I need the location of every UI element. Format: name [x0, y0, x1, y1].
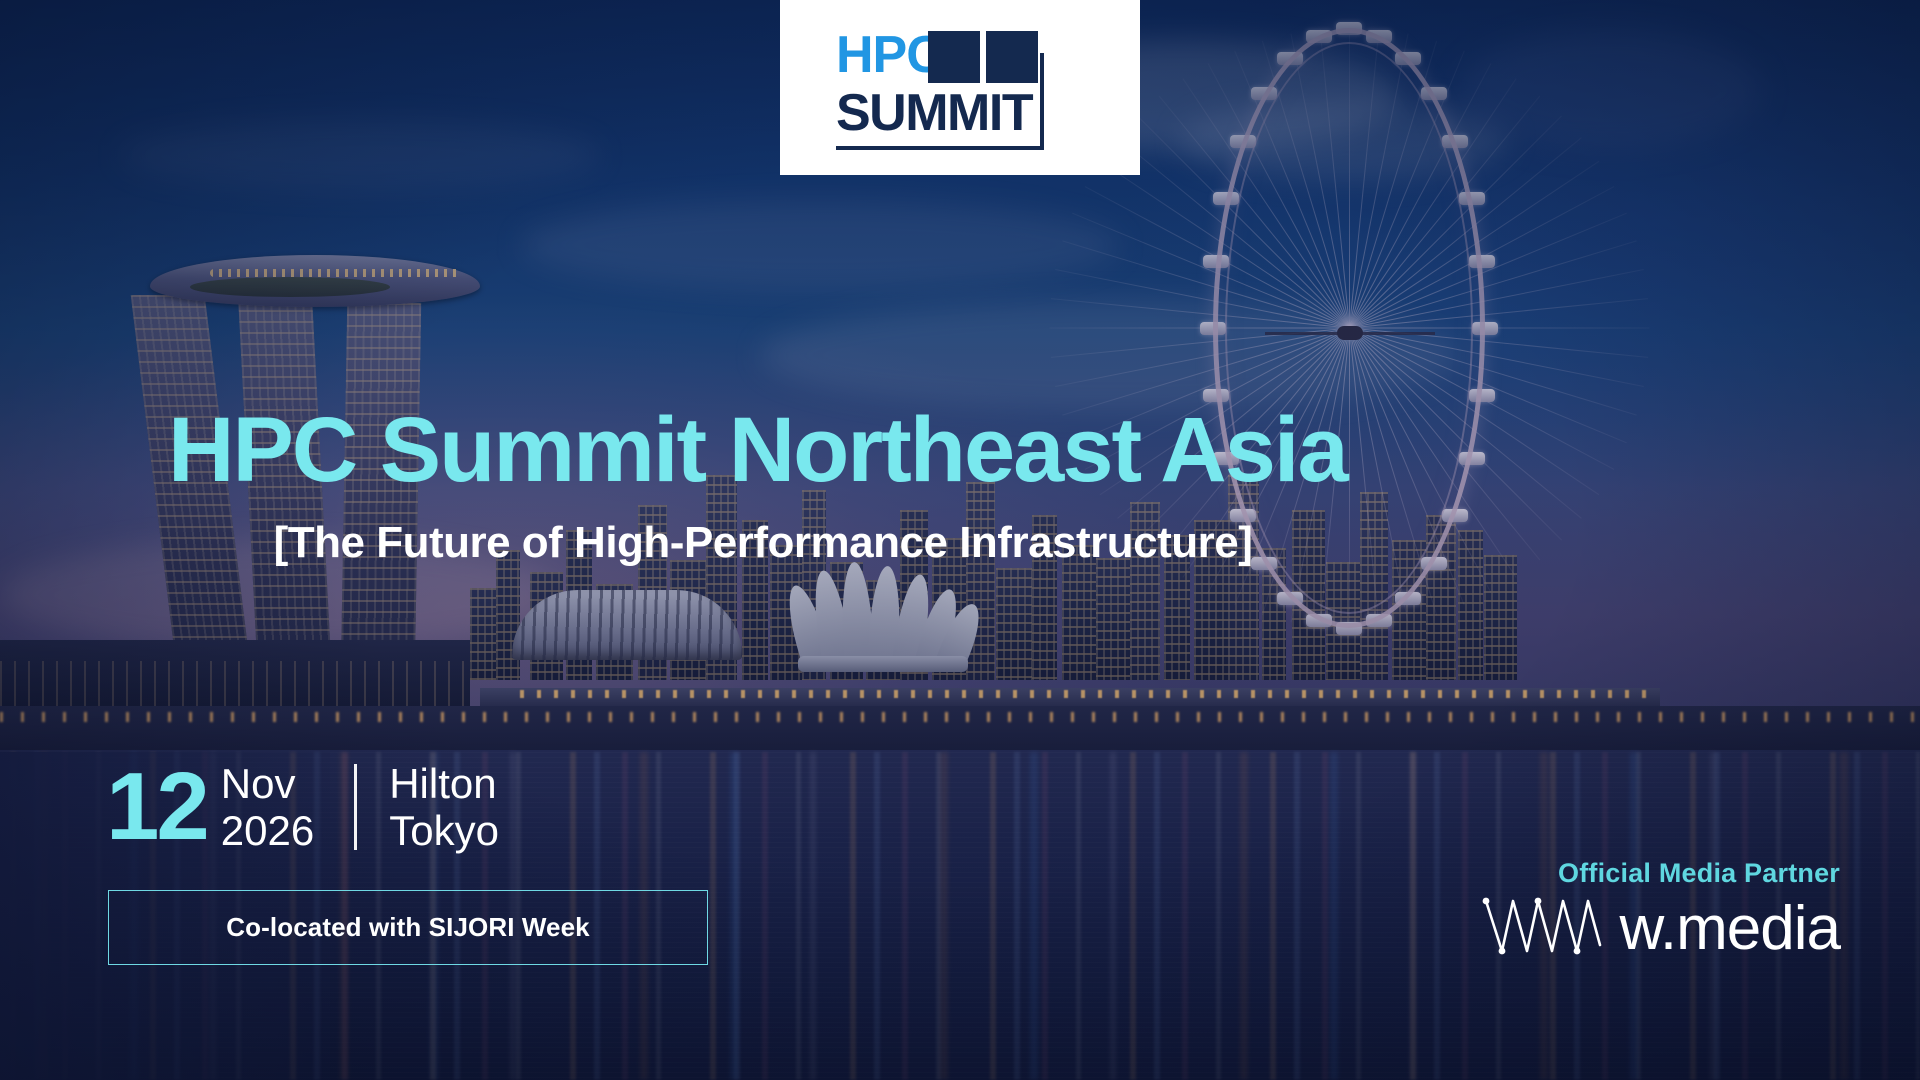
colocated-badge: Co-located with SIJORI Week [108, 890, 708, 965]
media-partner-brand: w.media [1620, 898, 1840, 960]
media-partner-label: Official Media Partner [1480, 858, 1840, 889]
wave-zigzag-icon [1480, 893, 1606, 964]
banner-content: HPC SUMMIT HPC Summit Northeast Asia [Th… [0, 0, 1920, 1080]
event-month: Nov [221, 760, 314, 807]
event-month-year: Nov 2026 [221, 760, 314, 855]
date-venue-block: 12 Nov 2026 Hilton Tokyo [106, 760, 499, 855]
headline-block: HPC Summit Northeast Asia [The Future of… [168, 404, 1768, 568]
venue-line-2: Tokyo [389, 807, 499, 854]
media-partner-logo: w.media [1480, 893, 1840, 964]
logo-mark: HPC SUMMIT [836, 25, 1084, 150]
page-subtitle: [The Future of High-Performance Infrastr… [168, 518, 1358, 568]
event-year: 2026 [221, 807, 314, 854]
hpc-summit-logo: HPC SUMMIT [780, 0, 1140, 175]
event-day: 12 [106, 764, 207, 850]
divider [354, 764, 357, 850]
media-partner-block: Official Media Partner w.media [1480, 858, 1840, 964]
logo-bracket-icon [836, 53, 1044, 150]
page-title: HPC Summit Northeast Asia [168, 404, 1768, 496]
event-venue: Hilton Tokyo [389, 760, 499, 855]
event-banner: HPC SUMMIT HPC Summit Northeast Asia [Th… [0, 0, 1920, 1080]
colocated-label: Co-located with SIJORI Week [226, 912, 589, 943]
venue-line-1: Hilton [389, 760, 499, 807]
